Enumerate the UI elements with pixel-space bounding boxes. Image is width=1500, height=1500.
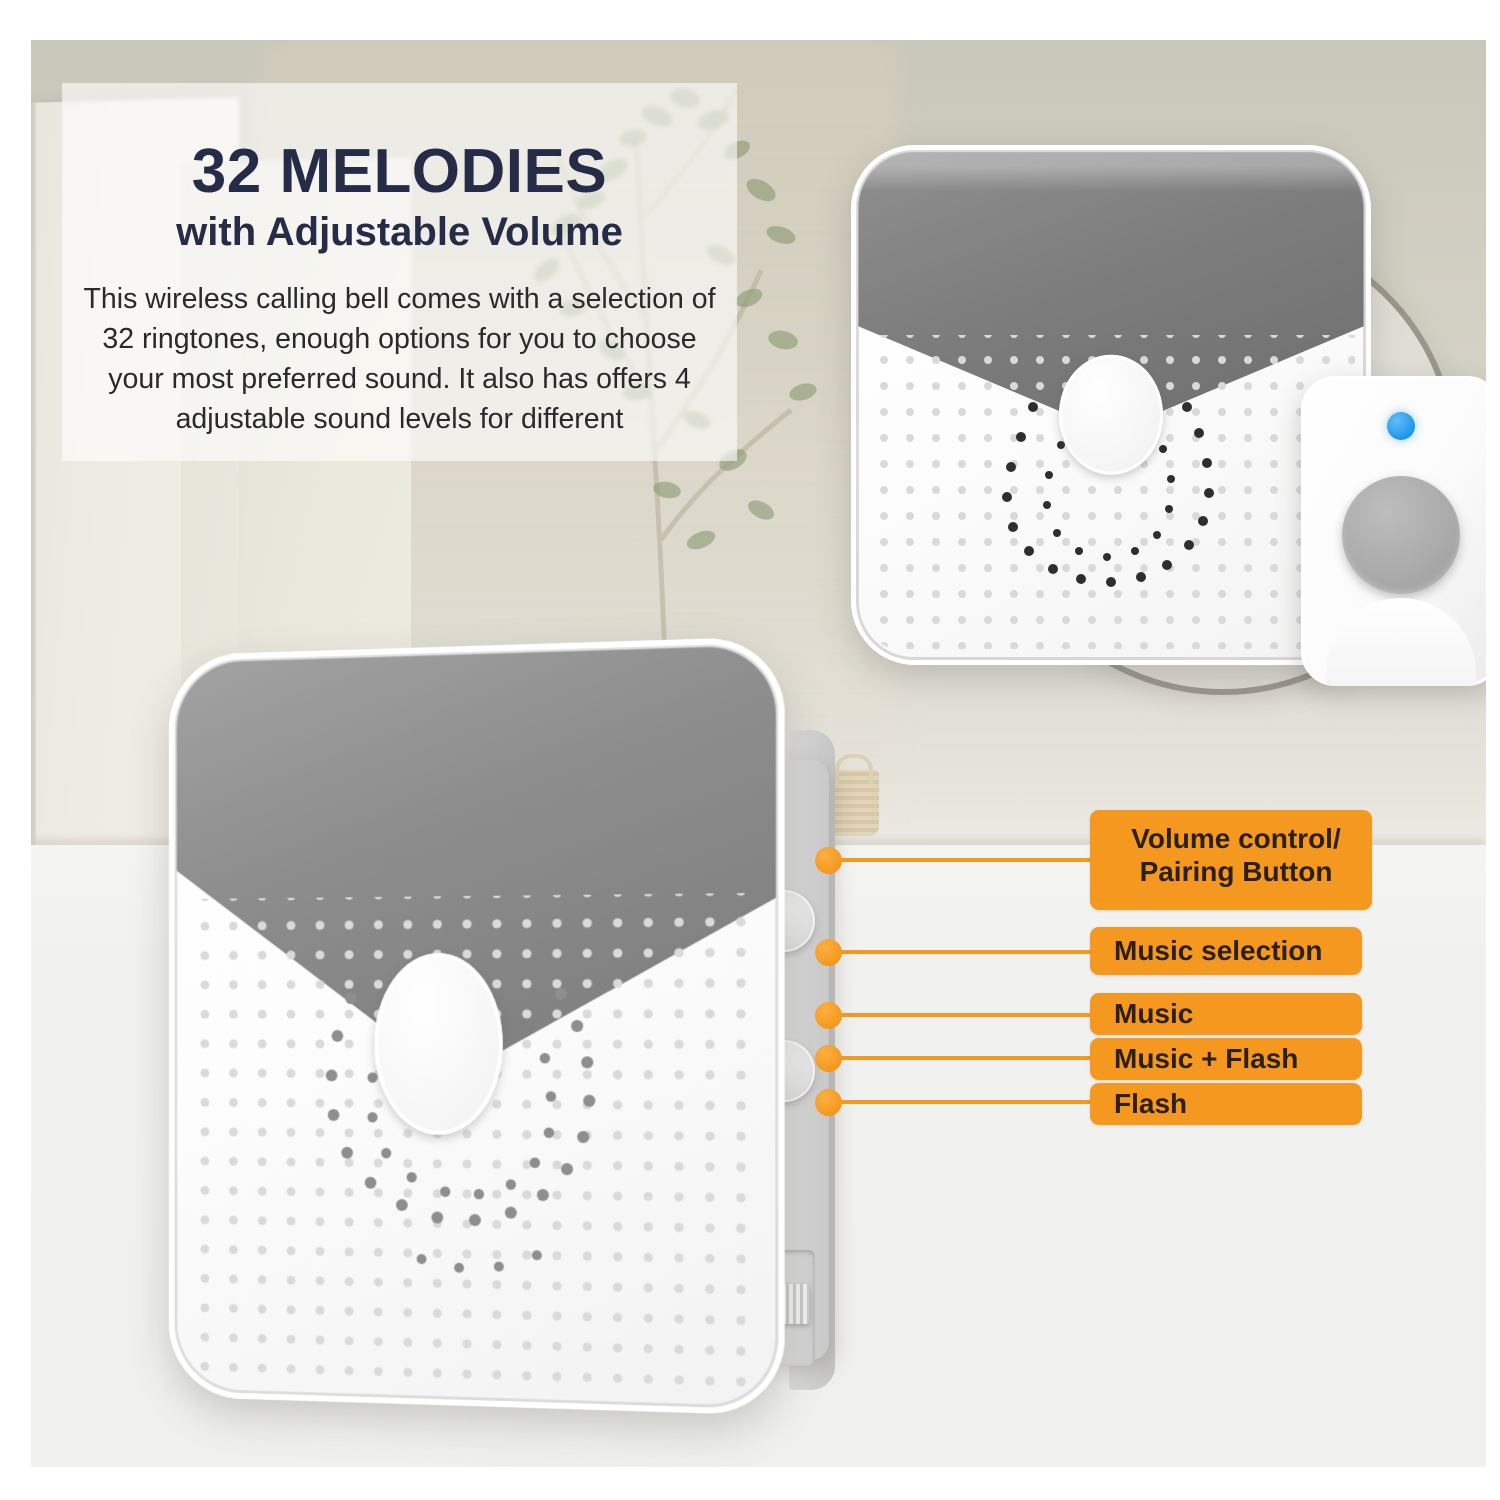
callout-group: Volume control/ Pairing Button Music sel…	[0, 0, 1500, 1500]
callout-label-flash[interactable]: Flash	[1090, 1083, 1362, 1125]
callout-line-music	[840, 1013, 1098, 1017]
callout-label-music-selection[interactable]: Music selection	[1090, 927, 1362, 975]
callout-line-volume-pairing	[840, 858, 1098, 862]
callout-label-volume-pairing-line2: Pairing Button	[1114, 855, 1358, 888]
callout-dot-volume-pairing	[815, 847, 842, 874]
callout-label-music-flash[interactable]: Music + Flash	[1090, 1038, 1362, 1080]
callout-dot-music	[815, 1002, 842, 1029]
callout-label-volume-pairing[interactable]: Volume control/ Pairing Button	[1090, 810, 1372, 910]
callout-label-volume-pairing-line1: Volume control/	[1114, 822, 1358, 855]
callout-line-music-flash	[840, 1056, 1098, 1060]
callout-line-flash	[840, 1100, 1098, 1104]
callout-dot-music-selection	[815, 939, 842, 966]
callout-dot-flash	[815, 1089, 842, 1116]
callout-label-music[interactable]: Music	[1090, 993, 1362, 1035]
callout-dot-music-flash	[815, 1045, 842, 1072]
callout-line-music-selection	[840, 950, 1098, 954]
promo-image: 32 MELODIES with Adjustable Volume This …	[0, 0, 1500, 1500]
